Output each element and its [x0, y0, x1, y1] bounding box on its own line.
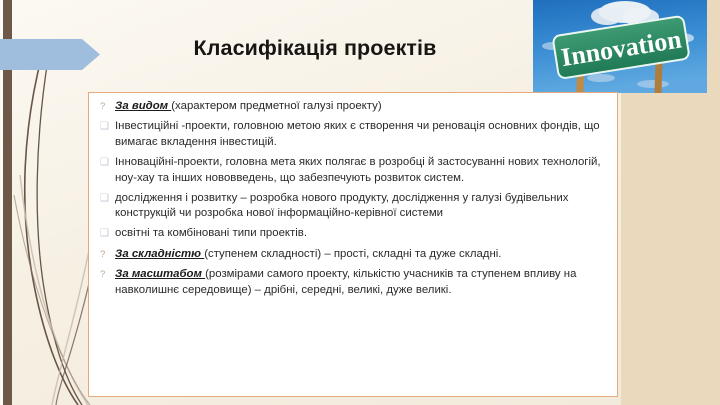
bullet-marker-box-icon: ❑ [95, 226, 115, 242]
list-item-text: Інвестиційні -проекти, головною метою як… [115, 119, 609, 150]
list-item-text: За видом (характером предметної галузі п… [115, 99, 609, 115]
list-item-lead: За складністю [115, 248, 204, 260]
list-item: ? За видом (характером предметної галузі… [95, 99, 609, 115]
bullet-marker-question-icon: ? [95, 267, 115, 282]
list-item-lead: За масштабом [115, 268, 205, 280]
page-title: Класифікація проектів [105, 36, 525, 61]
chevron-arrow-shape [0, 39, 100, 70]
list-item-text: Інноваційні-проекти, головна мета яких п… [115, 155, 609, 186]
bullet-marker-question-icon: ? [95, 247, 115, 262]
content-textbox: ? За видом (характером предметної галузі… [88, 92, 618, 397]
list-item: ? За масштабом (розмірами самого проекту… [95, 267, 609, 298]
list-item-text: освітні та комбіновані типи проектів. [115, 226, 609, 242]
list-item: ❑ дослідження і розвитку – розробка ново… [95, 191, 609, 222]
decorative-grass-lines [12, 55, 92, 405]
list-item: ❑ Інвестиційні -проекти, головною метою … [95, 119, 609, 150]
list-item-lead: За видом [115, 100, 171, 112]
list-item: ❑ освітні та комбіновані типи проектів. [95, 226, 609, 242]
bullet-marker-box-icon: ❑ [95, 119, 115, 135]
list-item: ❑ Інноваційні-проекти, головна мета яких… [95, 155, 609, 186]
slide: Класифікація проектів [0, 0, 720, 405]
list-item-text: За складністю (ступенем складності) – пр… [115, 247, 609, 263]
list-item-rest: (характером предметної галузі проекту) [171, 100, 381, 112]
list-item-rest: (ступенем складності) – прості, складні … [204, 248, 501, 260]
list-item: ? За складністю (ступенем складності) – … [95, 247, 609, 263]
innovation-road-sign-photo: Innovation [533, 0, 707, 93]
list-item-text: дослідження і розвитку – розробка нового… [115, 191, 609, 222]
bullet-list: ? За видом (характером предметної галузі… [95, 99, 609, 298]
bullet-marker-box-icon: ❑ [95, 191, 115, 207]
bullet-marker-box-icon: ❑ [95, 155, 115, 171]
list-item-text: За масштабом (розмірами самого проекту, … [115, 267, 609, 298]
bullet-marker-question-icon: ? [95, 99, 115, 114]
